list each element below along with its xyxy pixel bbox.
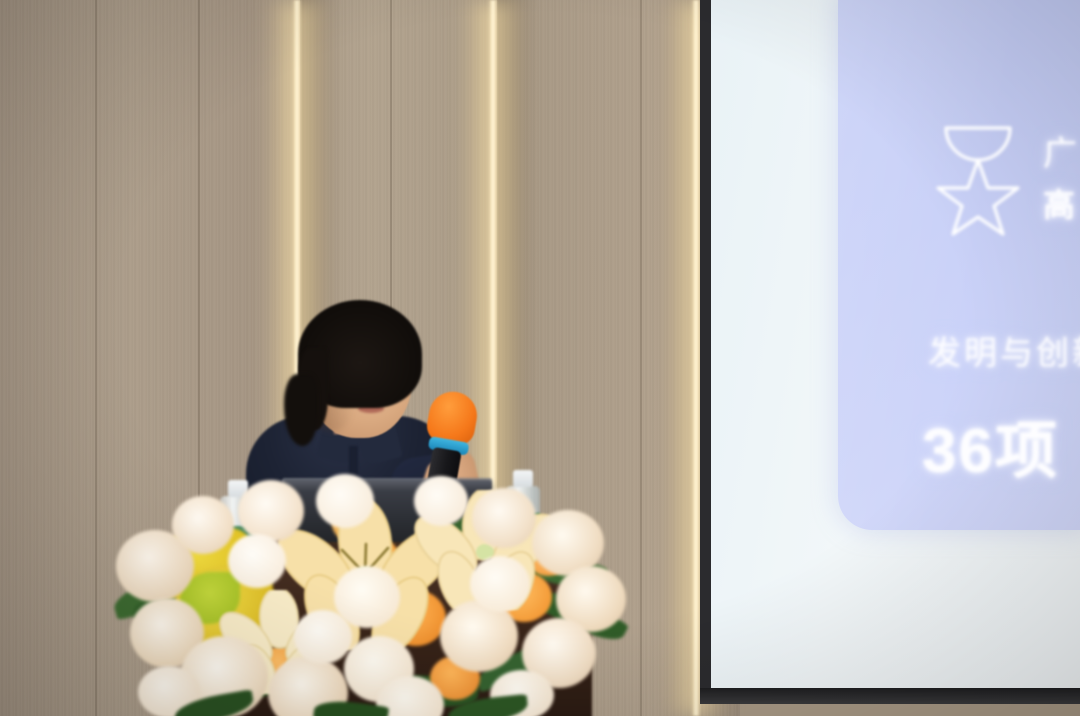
rose — [228, 534, 286, 588]
slide-subtitle: 发明与创新 — [928, 326, 1080, 374]
flower-arrangement — [118, 470, 628, 716]
rose — [470, 556, 530, 612]
wall-seam — [95, 0, 97, 716]
medal-star-icon — [930, 110, 1026, 240]
slide-heading-line-1: 广 — [1043, 126, 1078, 175]
speaker-ponytail — [284, 374, 318, 446]
rose — [294, 610, 352, 664]
rose — [472, 488, 536, 548]
slide-highlight-number: 36项 — [922, 400, 1059, 490]
rose — [316, 474, 374, 528]
wall-seam — [640, 0, 642, 716]
slide-heading-line-2: 高 — [1043, 180, 1076, 226]
projection-screen-bottom-frame — [700, 688, 1080, 704]
rose — [414, 476, 468, 526]
photo-scene: 广 高 发明与创新 36项 — [0, 0, 1080, 716]
rose — [172, 496, 234, 554]
rose — [238, 480, 304, 542]
